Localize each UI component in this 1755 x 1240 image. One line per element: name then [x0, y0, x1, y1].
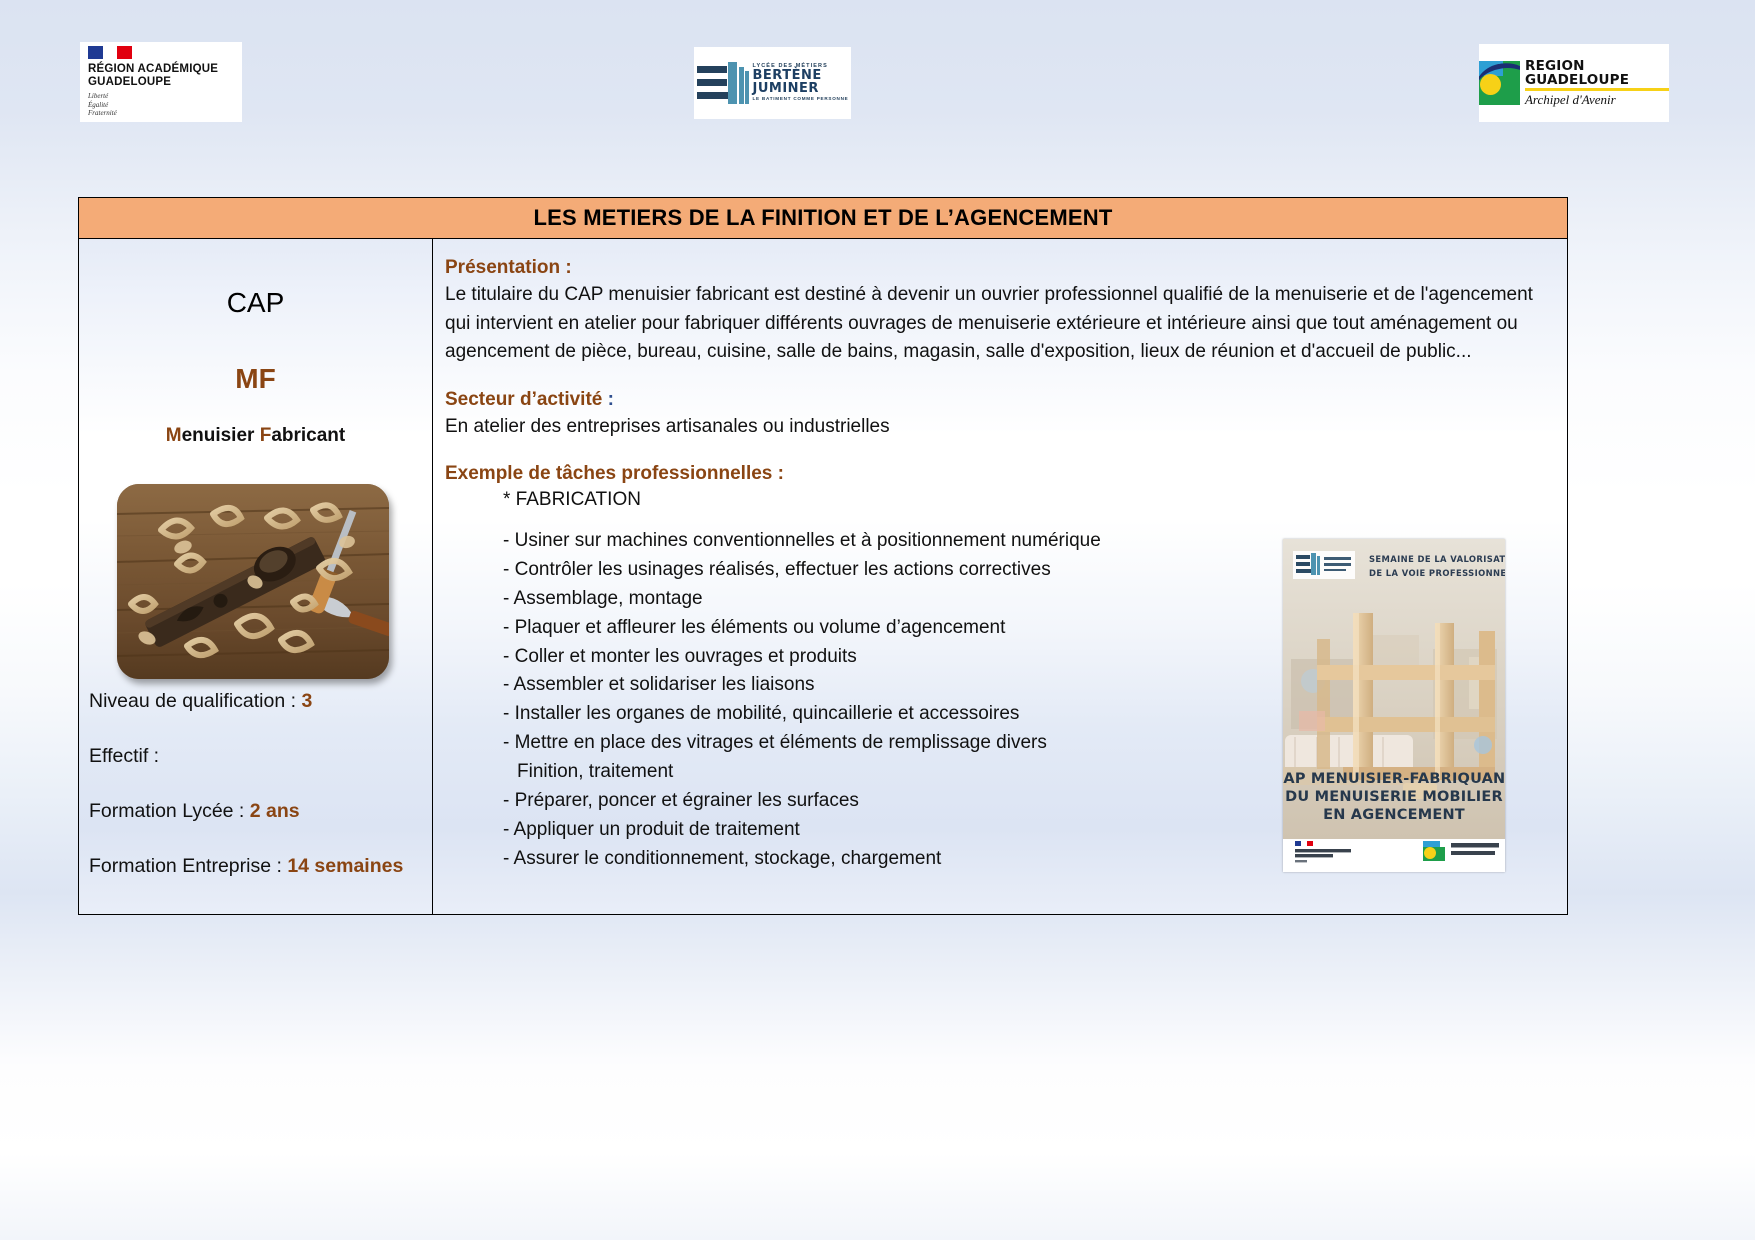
logo-ra-title-line2: GUADELOUPE	[88, 76, 234, 89]
fact-niveau-value: 3	[301, 690, 312, 712]
logo-rg-divider	[1525, 88, 1669, 91]
logo-region-guadeloupe: REGION GUADELOUPE Archipel d'Avenir	[1479, 44, 1669, 122]
fact-formation-entreprise-label: Formation Entreprise :	[89, 855, 282, 877]
card-body: CAP MF Menuisier Fabricant	[79, 239, 1567, 914]
left-column: CAP MF Menuisier Fabricant	[79, 239, 433, 914]
logo-ra-motto-fraternite: Fraternité	[88, 109, 234, 118]
fact-niveau-label: Niveau de qualification :	[89, 690, 296, 712]
full-name-mid: enuisier	[182, 425, 260, 446]
island-sun-icon	[1479, 61, 1520, 105]
fact-formation-lycee-value: 2 ans	[250, 800, 300, 822]
full-name-label: Menuisier Fabricant	[79, 425, 432, 447]
full-name-initial-f: F	[260, 425, 272, 446]
logo-ra-title-line1: RÉGION ACADÉMIQUE	[88, 63, 234, 76]
poster-title-line3: EN AGENCEMENT	[1323, 807, 1465, 823]
qualification-facts: Niveau de qualification : 3 Effectif : F…	[89, 690, 429, 878]
french-flag-icon	[88, 46, 132, 59]
logo-rg-title: REGION GUADELOUPE	[1525, 60, 1669, 87]
poster-kicker-line2: DE LA VOIE PROFESSIONNELLE	[1369, 568, 1505, 578]
logo-rg-subtitle: Archipel d'Avenir	[1525, 93, 1669, 106]
header-logo-bar: RÉGION ACADÉMIQUE GUADELOUPE Liberté Éga…	[0, 0, 1755, 150]
tasks-subheading: * FABRICATION	[503, 489, 1545, 511]
poster-title-line2: DU MENUISERIE MOBILIER	[1285, 789, 1503, 805]
logo-ra-motto-liberte: Liberté	[88, 92, 234, 101]
full-name-end: abricant	[271, 425, 345, 446]
fact-formation-entreprise: Formation Entreprise : 14 semaines	[89, 855, 429, 878]
fact-formation-entreprise-value: 14 semaines	[287, 855, 403, 877]
poster-title-line1: CAP MENUISIER-FABRIQUANT	[1283, 771, 1505, 787]
presentation-body: Le titulaire du CAP menuisier fabricant …	[445, 281, 1545, 367]
logo-ra-motto-egalite: Égalité	[88, 101, 234, 110]
fact-effectif-label: Effectif :	[89, 745, 159, 767]
card-title: LES METIERS DE LA FINITION ET DE L’AGENC…	[79, 198, 1567, 239]
promo-poster-image: SEMAINE DE LA VALORISATION DE LA VOIE PR…	[1283, 539, 1505, 872]
full-name-initial-m: M	[166, 425, 182, 446]
building-icon	[697, 62, 749, 104]
logo-bj-tagline: LE BATIMENT COMME PERSONNE	[753, 97, 849, 102]
diploma-label: CAP	[79, 287, 432, 319]
sector-body: En atelier des entreprises artisanales o…	[445, 413, 1545, 442]
sector-heading-colon: :	[602, 389, 614, 410]
logo-bj-name-line2: JUMINER	[753, 82, 849, 95]
fact-formation-lycee-label: Formation Lycée :	[89, 800, 244, 822]
right-column: Présentation : Le titulaire du CAP menui…	[433, 239, 1567, 914]
poster-kicker-line1: SEMAINE DE LA VALORISATION	[1369, 554, 1505, 564]
fact-niveau: Niveau de qualification : 3	[89, 690, 429, 713]
fact-effectif: Effectif :	[89, 745, 429, 768]
presentation-heading: Présentation :	[445, 257, 1545, 279]
logo-lycee-bertene-juminer: LYCÉE DES MÉTIERS BERTÈNE JUMINER LE BAT…	[694, 47, 851, 119]
fact-formation-lycee: Formation Lycée : 2 ans	[89, 800, 429, 823]
logo-region-academique-guadeloupe: RÉGION ACADÉMIQUE GUADELOUPE Liberté Éga…	[80, 42, 242, 122]
sector-heading: Secteur d’activité :	[445, 389, 1545, 411]
info-card: LES METIERS DE LA FINITION ET DE L’AGENC…	[78, 197, 1568, 915]
woodworking-tools-photo	[117, 484, 389, 679]
tasks-heading: Exemple de tâches professionnelles :	[445, 463, 1545, 485]
abbreviation-label: MF	[79, 363, 432, 395]
sector-heading-text: Secteur d’activité	[445, 389, 602, 410]
